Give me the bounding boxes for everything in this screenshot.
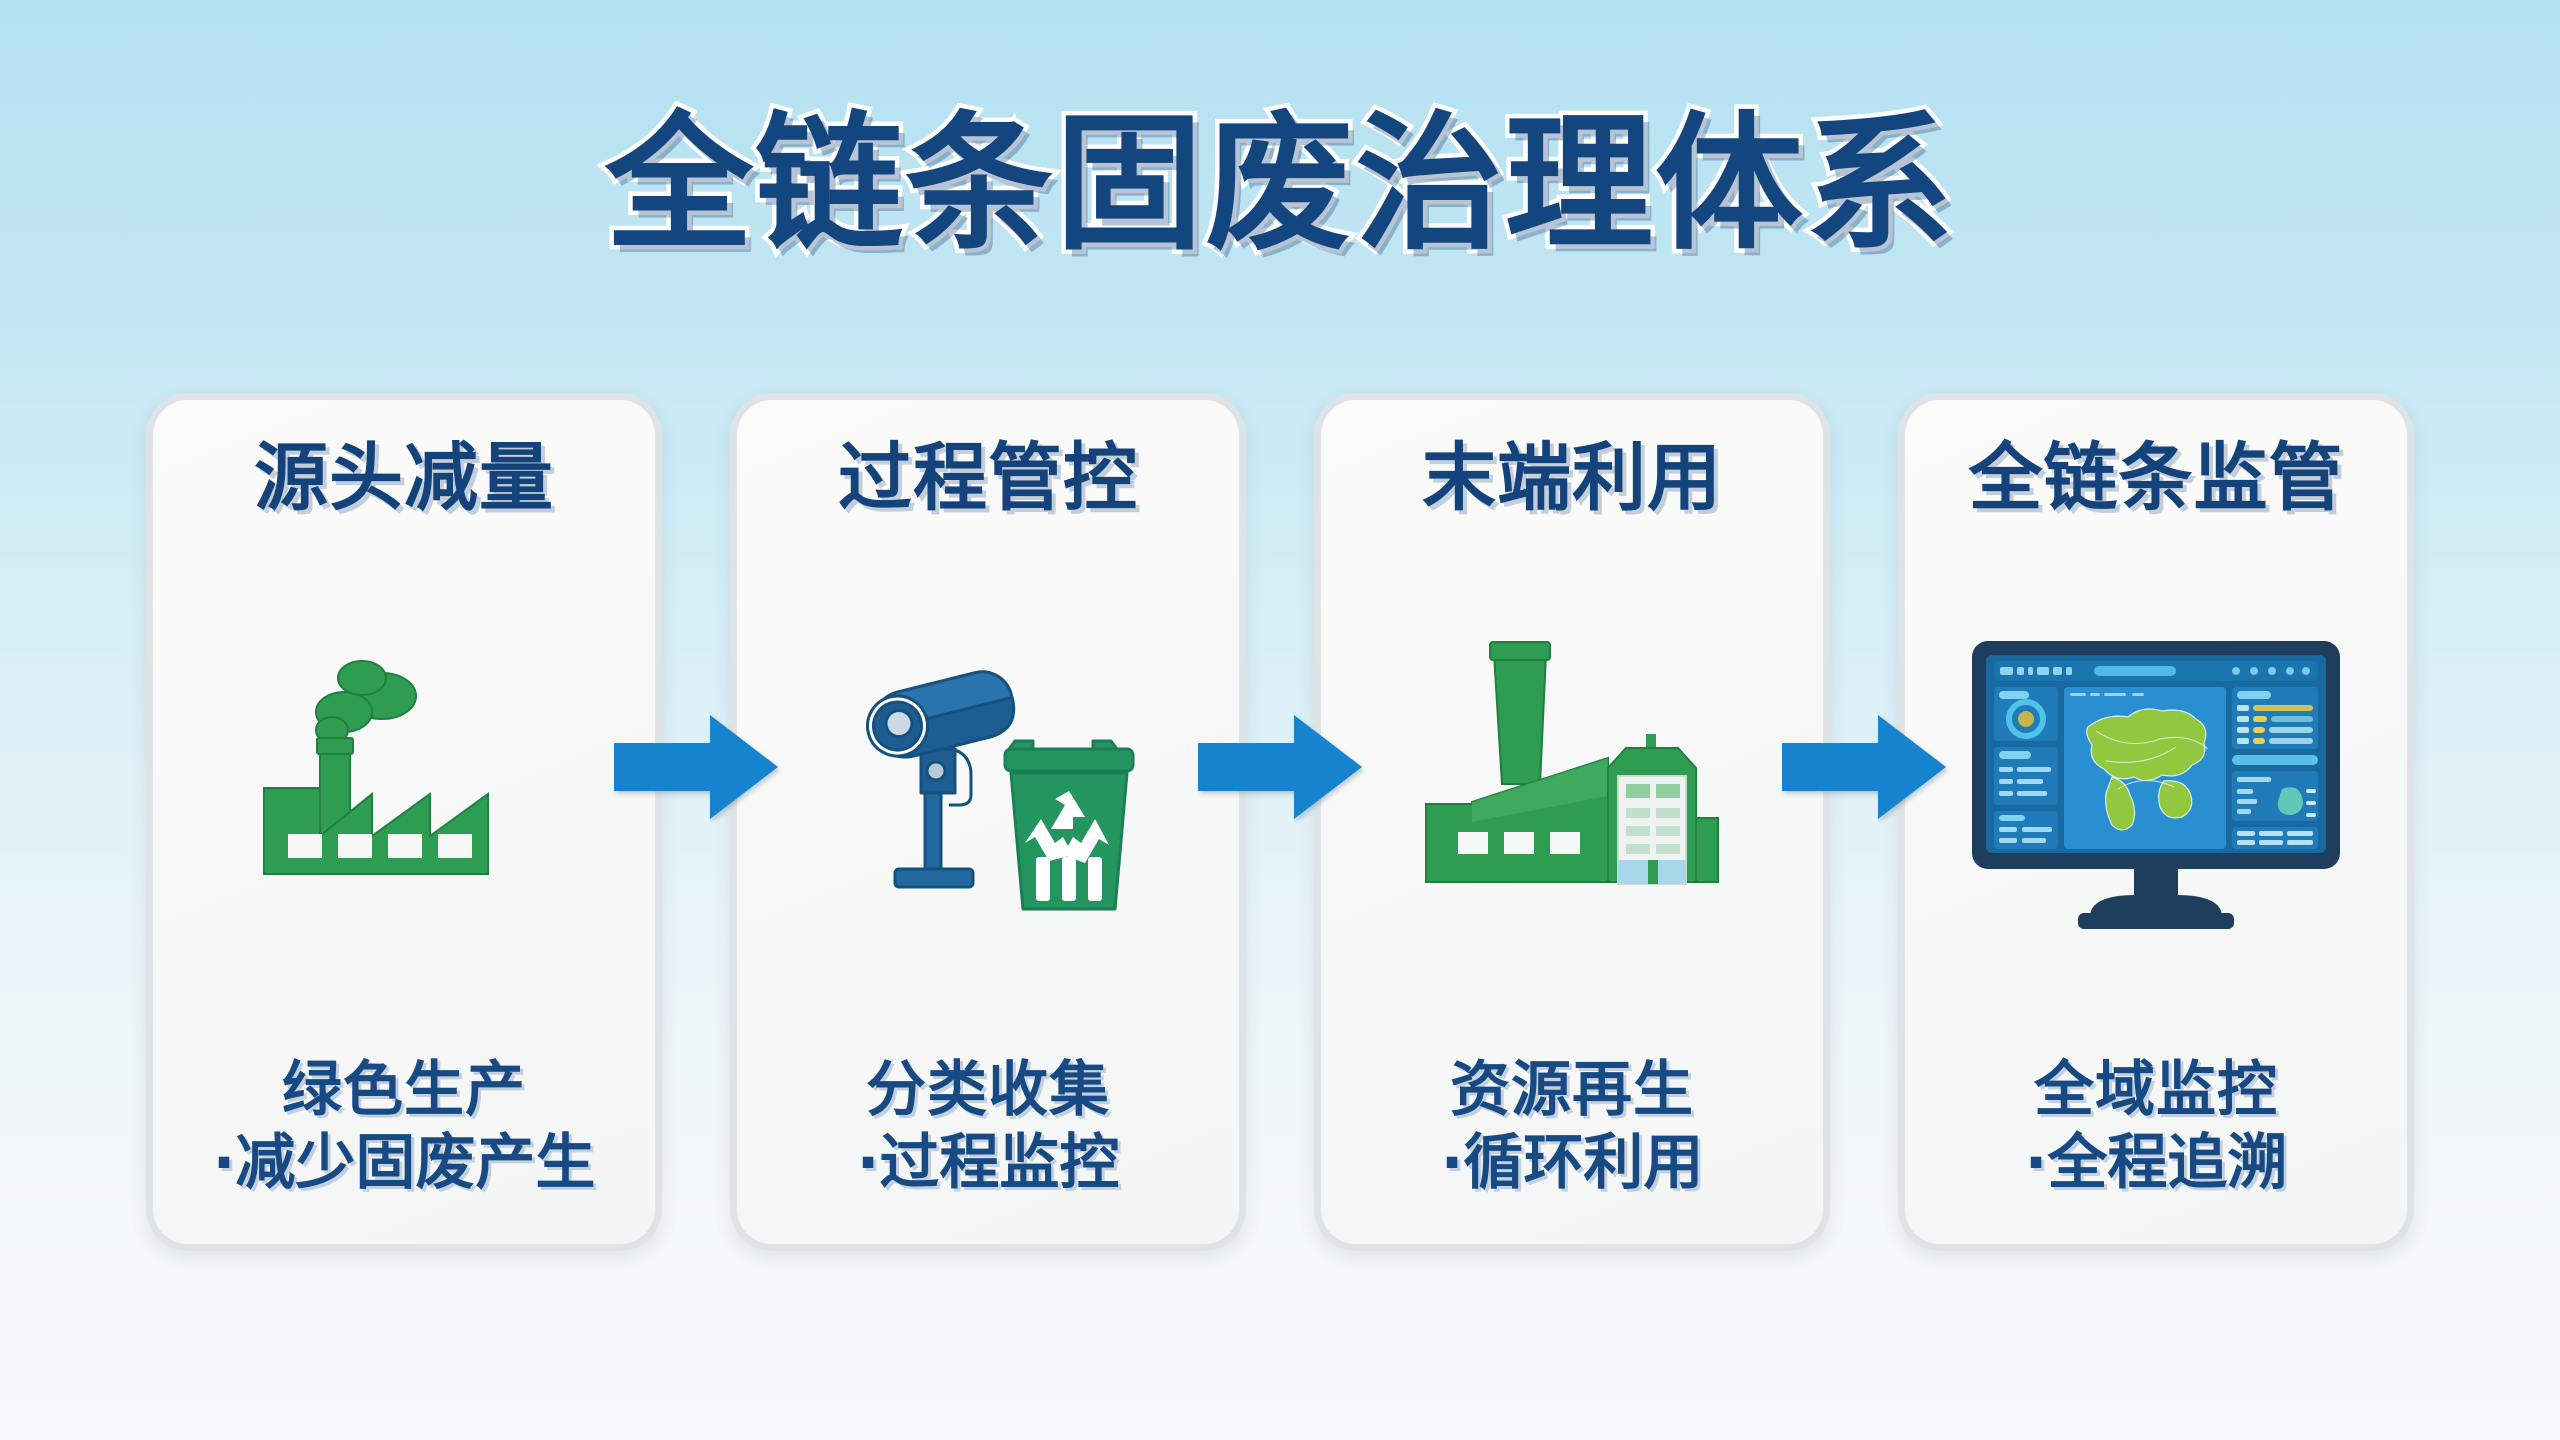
arrow-gap-1 xyxy=(662,393,730,1255)
arrow-1-to-2 xyxy=(614,713,778,821)
page-title: 全链条固废治理体系 xyxy=(605,110,1955,258)
card-full-chain-supervision[interactable]: 全链条监管 xyxy=(1898,393,2414,1251)
card-icon-area xyxy=(737,518,1239,1054)
card-text-block: 分类收集 ·过程监控 xyxy=(737,1054,1239,1244)
process-flow-row: 源头减量 xyxy=(0,393,2560,1255)
card-line-primary: 资源再生 xyxy=(1321,1054,1823,1127)
recycling-plant-building-icon xyxy=(1412,636,1732,926)
card-line-primary: 全域监控 xyxy=(1905,1054,2407,1127)
arrow-gap-2 xyxy=(1246,393,1314,1255)
card-line-primary: 绿色生产 xyxy=(153,1054,655,1127)
monitoring-dashboard-screen-icon xyxy=(1966,631,2346,931)
arrow-gap-3 xyxy=(1830,393,1898,1255)
arrow-2-to-3 xyxy=(1198,713,1362,821)
card-title: 源头减量 xyxy=(254,440,554,518)
factory-smokestack-icon xyxy=(254,646,554,916)
card-text-block: 资源再生 ·循环利用 xyxy=(1321,1054,1823,1244)
card-line-primary: 分类收集 xyxy=(737,1054,1239,1127)
arrow-right-icon xyxy=(614,713,778,821)
card-text-block: 全域监控 ·全程追溯 xyxy=(1905,1054,2407,1244)
card-icon-area xyxy=(1905,518,2407,1054)
arrow-right-icon xyxy=(1198,713,1362,821)
card-process-control[interactable]: 过程管控 xyxy=(730,393,1246,1251)
card-line-secondary: ·过程监控 xyxy=(737,1127,1239,1200)
card-title: 全链条监管 xyxy=(1969,440,2344,518)
card-source-reduction[interactable]: 源头减量 xyxy=(146,393,662,1251)
card-line-secondary: ·全程追溯 xyxy=(1905,1127,2407,1200)
card-line-secondary: ·减少固废产生 xyxy=(153,1127,655,1200)
card-text-block: 绿色生产 ·减少固废产生 xyxy=(153,1054,655,1244)
card-title: 过程管控 xyxy=(838,440,1138,518)
card-title: 末端利用 xyxy=(1422,440,1722,518)
arrow-3-to-4 xyxy=(1782,713,1946,821)
card-icon-area xyxy=(153,518,655,1054)
title-block: 全链条固废治理体系 xyxy=(0,110,2560,258)
arrow-right-icon xyxy=(1782,713,1946,821)
infographic-canvas: 全链条固废治理体系 源头减量 xyxy=(0,0,2560,1440)
card-icon-area xyxy=(1321,518,1823,1054)
cctv-camera-and-recycle-bin-icon xyxy=(823,641,1153,921)
card-terminal-utilization[interactable]: 末端利用 xyxy=(1314,393,1830,1251)
card-line-secondary: ·循环利用 xyxy=(1321,1127,1823,1200)
